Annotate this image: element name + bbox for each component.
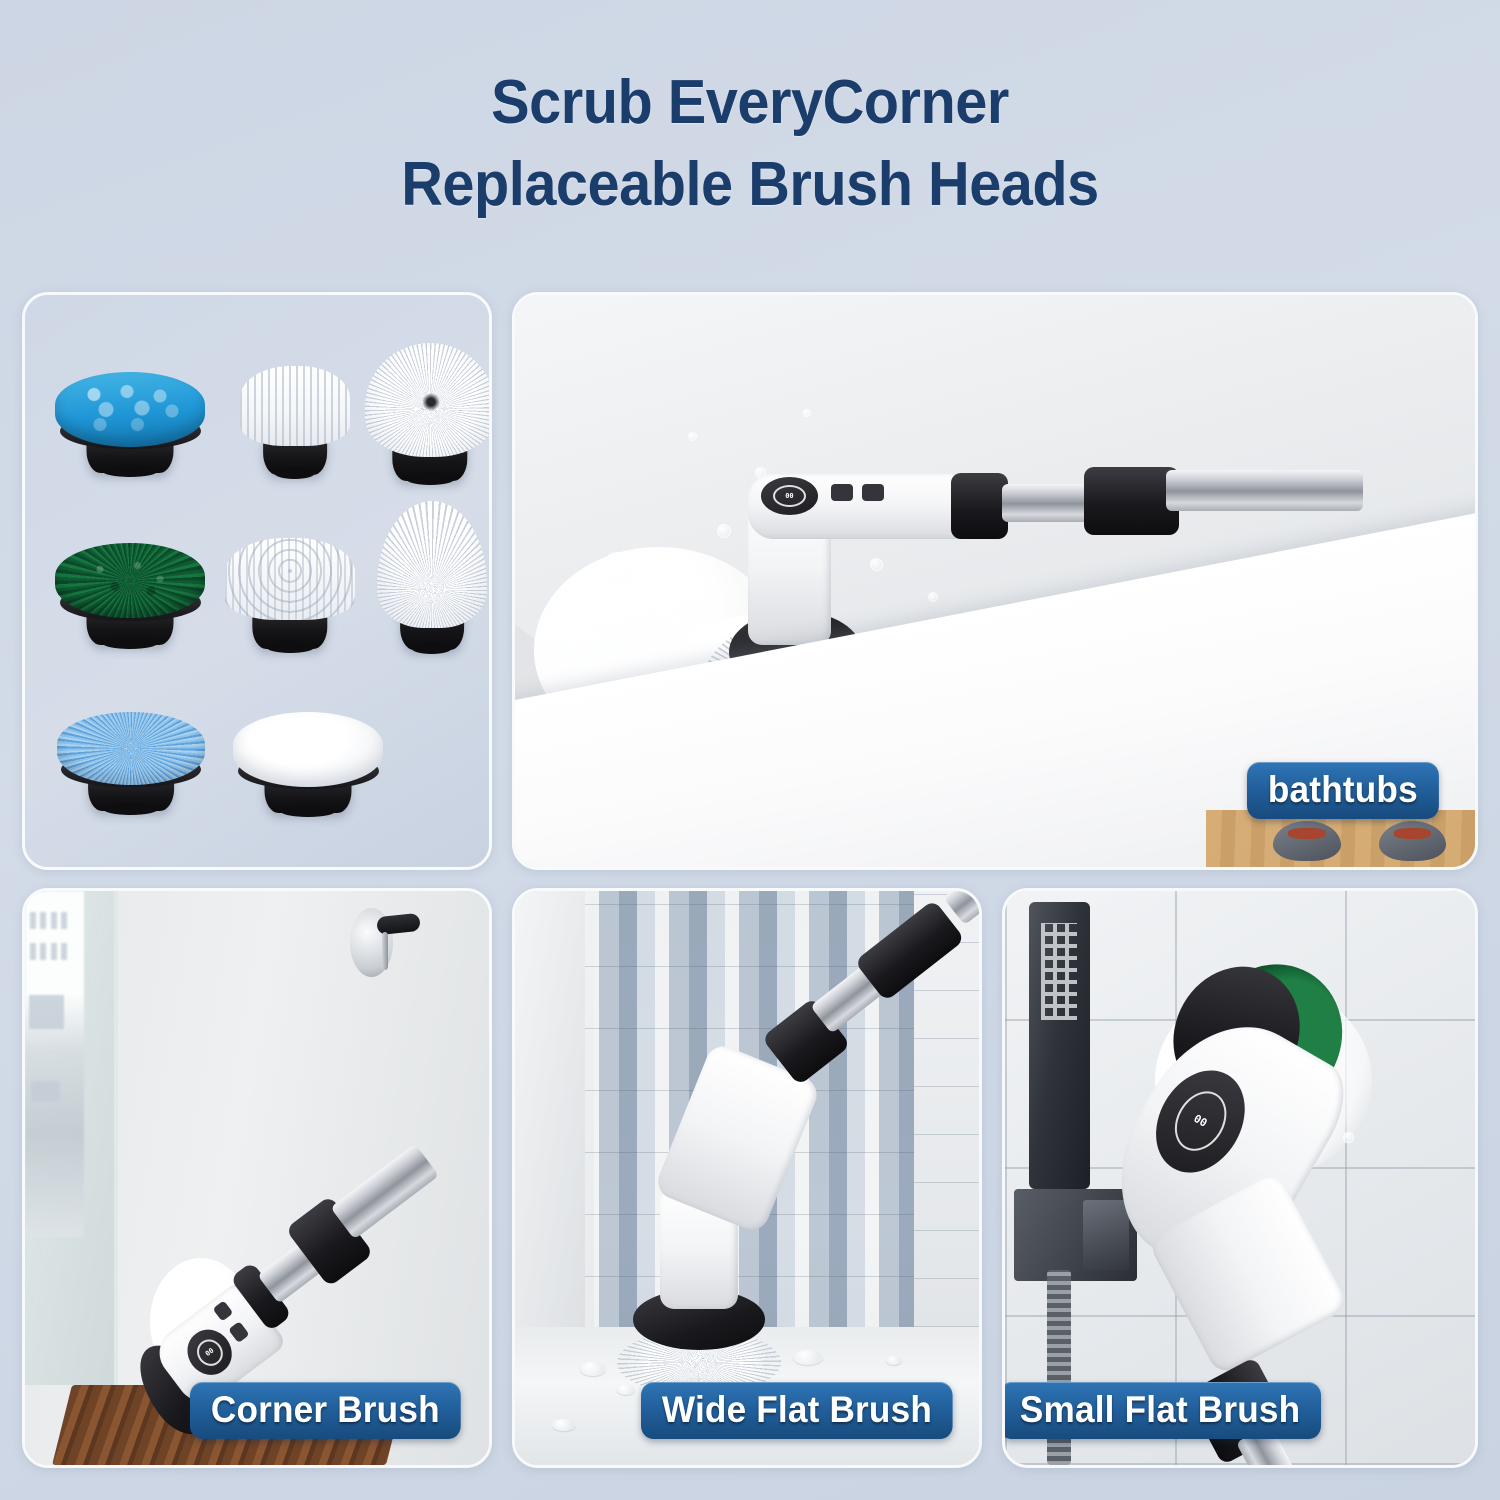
- shower-nozzle-grid: [1041, 923, 1078, 1021]
- brush-surface: [233, 712, 383, 786]
- building-window: [61, 912, 67, 929]
- building-facade: [29, 995, 64, 1030]
- corner-brush-panel: 00 Corner Brush: [22, 888, 492, 1468]
- wide-flat-brush-scene: [515, 891, 979, 1465]
- brush-surface: [377, 501, 487, 628]
- brush-head-blue-honeycomb-sponge-pad: [55, 353, 205, 473]
- valve-spout: [382, 932, 388, 971]
- building-window: [30, 912, 36, 929]
- brush-head-green-scouring-pad: [55, 523, 205, 645]
- telescopic-pole-outer: [1166, 470, 1362, 511]
- badge-bathtubs: bathtubs: [1247, 762, 1439, 819]
- brush-surface: [365, 343, 492, 457]
- building-window: [61, 943, 67, 960]
- brush-surface: [225, 538, 355, 620]
- page-title-line-2: Replaceable Brush Heads: [53, 144, 1448, 226]
- badge-small-flat-brush: Small Flat Brush: [1002, 1382, 1321, 1439]
- small-flat-brush-scene: 00: [1005, 891, 1475, 1465]
- brush-surface: [55, 372, 205, 446]
- display-value: 00: [773, 485, 806, 507]
- brush-head-blue-microfiber-pad: [57, 693, 205, 811]
- building-window: [30, 943, 36, 960]
- device-display: 00: [761, 477, 818, 515]
- brush-head-white-cone-brush: [377, 495, 487, 650]
- brush-head-white-flat-bristle-brush: [240, 345, 350, 475]
- telescopic-pole-outer: [330, 1143, 439, 1239]
- display-value: 00: [192, 1334, 228, 1370]
- shower-mixer-valve: [350, 908, 424, 977]
- brush-surface: [240, 366, 350, 447]
- mode-button[interactable]: [862, 484, 884, 501]
- brush-head-white-dome-corner-brush: [365, 331, 492, 481]
- water-droplet: [580, 1362, 606, 1376]
- building-window: [40, 943, 46, 960]
- wide-flat-brush-panel: Wide Flat Brush: [512, 888, 982, 1468]
- small-flat-brush-panel: 00 Small Flat Brush: [1002, 888, 1478, 1468]
- page-title: Scrub EveryCorner Replaceable Brush Head…: [53, 62, 1448, 227]
- display-value: 00: [1164, 1083, 1236, 1161]
- pole-lock: [1084, 467, 1179, 536]
- bathtub-panel: 00 bathtubs: [512, 292, 1478, 870]
- power-button[interactable]: [831, 484, 853, 501]
- slipper: [1379, 821, 1446, 861]
- street-element: [31, 1081, 60, 1102]
- brush-head-white-spiral-brush: [225, 517, 355, 649]
- soap-bubble: [688, 432, 697, 441]
- building-window: [51, 912, 57, 929]
- slipper: [1273, 821, 1340, 861]
- building-window: [40, 912, 46, 929]
- building-window: [51, 943, 57, 960]
- page-title-line-1: Scrub EveryCorner: [491, 68, 1009, 137]
- brush-surface: [57, 712, 205, 785]
- brush-heads-panel: [22, 292, 492, 870]
- pole-collar: [951, 473, 1008, 538]
- soap-bubble: [573, 627, 595, 649]
- telescopic-pole-inner: [1002, 484, 1097, 522]
- corner-brush-scene: 00: [25, 891, 489, 1465]
- brush-surface: [55, 543, 205, 619]
- badge-wide-flat-brush: Wide Flat Brush: [641, 1382, 953, 1439]
- spin-scrubber-device: [617, 925, 982, 1430]
- brush-head-white-fleece-pad: [233, 693, 383, 813]
- wall-panel: [515, 891, 594, 1339]
- badge-corner-brush: Corner Brush: [190, 1382, 461, 1439]
